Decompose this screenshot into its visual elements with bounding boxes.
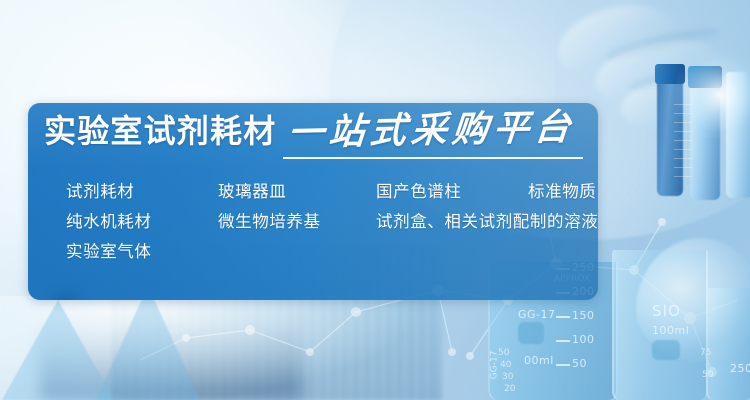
graduation-label-50-left: 50 (498, 348, 509, 358)
graduation-label-50: 50 (572, 357, 587, 370)
graduation-label-75: 75 (700, 348, 711, 358)
category-item-reagent-kits-solutions[interactable]: 试剂盒、相关试剂配制的溶液 (376, 207, 598, 237)
graduation-tick (556, 364, 570, 366)
headline-underline (283, 157, 583, 159)
beaker-brand-label: SIO (652, 302, 681, 320)
headline-panel-content: 实验室试剂耗材 一站式采购平台 试剂耗材 玻璃器皿 国产色谱柱 标准物质 纯水机… (28, 103, 598, 300)
volume-label: 00ml (524, 354, 554, 367)
category-item-reagent-consumables[interactable]: 试剂耗材 (66, 177, 134, 207)
graduation-label-30-left: 30 (502, 372, 513, 382)
glass-code-label-left: GG-17 (489, 351, 499, 380)
category-item-microbial-culture-medium[interactable]: 微生物培养基 (218, 207, 321, 237)
beaker-volume-label: 100ml (652, 324, 689, 337)
graduation-label-100: 100 (572, 333, 595, 346)
category-item-glassware[interactable]: 玻璃器皿 (218, 177, 286, 207)
category-row: 纯水机耗材 微生物培养基 试剂盒、相关试剂配制的溶液 (38, 207, 598, 237)
headline-title-primary: 实验室试剂耗材 (44, 115, 276, 147)
glass-code-label: GG-17 (518, 308, 556, 321)
graduation-label-150: 150 (572, 309, 595, 322)
category-item-water-purifier-consumables[interactable]: 纯水机耗材 (66, 207, 152, 237)
headline-title-calligraphy: 一站式采购平台 (287, 109, 578, 151)
headline-title-row: 实验室试剂耗材 一站式采购平台 (44, 112, 575, 148)
graduation-label-50-right: 50 (702, 370, 713, 380)
category-item-domestic-chromatography-column[interactable]: 国产色谱柱 (376, 177, 462, 207)
laboratory-reagent-banner: 250 APPROX 200 150 100 50 GG-17 00ml 100… (0, 0, 750, 400)
category-row: 试剂耗材 玻璃器皿 国产色谱柱 标准物质 (38, 177, 598, 207)
graduation-tick (556, 316, 570, 318)
erlenmeyer-flask-center (96, 286, 200, 400)
category-item-laboratory-gases[interactable]: 实验室气体 (66, 237, 152, 267)
beaker-logo-patch (518, 322, 544, 344)
headline-panel: 实验室试剂耗材 一站式采购平台 试剂耗材 玻璃器皿 国产色谱柱 标准物质 纯水机… (28, 103, 598, 300)
beaker-logo-patch (652, 340, 680, 360)
graduation-label-20-left: 20 (504, 384, 515, 394)
graduation-label-40-left: 40 (500, 360, 511, 370)
graduation-label-250-right: 250 (730, 362, 750, 375)
category-row: 实验室气体 (38, 237, 598, 267)
graduation-tick (556, 340, 570, 342)
category-item-reference-material[interactable]: 标准物质 (528, 177, 596, 207)
category-list: 试剂耗材 玻璃器皿 国产色谱柱 标准物质 纯水机耗材 微生物培养基 试剂盒、相关… (38, 177, 598, 267)
